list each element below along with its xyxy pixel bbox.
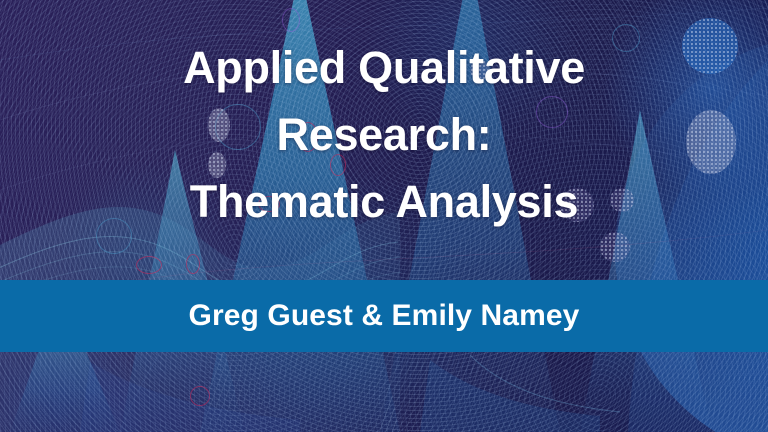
author-banner: Greg Guest & Emily Namey bbox=[0, 280, 768, 352]
title-line-3: Thematic Analysis bbox=[40, 168, 728, 235]
slide-title: Applied Qualitative Research: Thematic A… bbox=[0, 34, 768, 235]
title-line-2: Research: bbox=[40, 101, 728, 168]
slide-content: Applied Qualitative Research: Thematic A… bbox=[0, 0, 768, 432]
title-line-1: Applied Qualitative bbox=[40, 34, 728, 101]
author-names: Greg Guest & Emily Namey bbox=[189, 301, 580, 331]
title-slide: Applied Qualitative Research: Thematic A… bbox=[0, 0, 768, 432]
